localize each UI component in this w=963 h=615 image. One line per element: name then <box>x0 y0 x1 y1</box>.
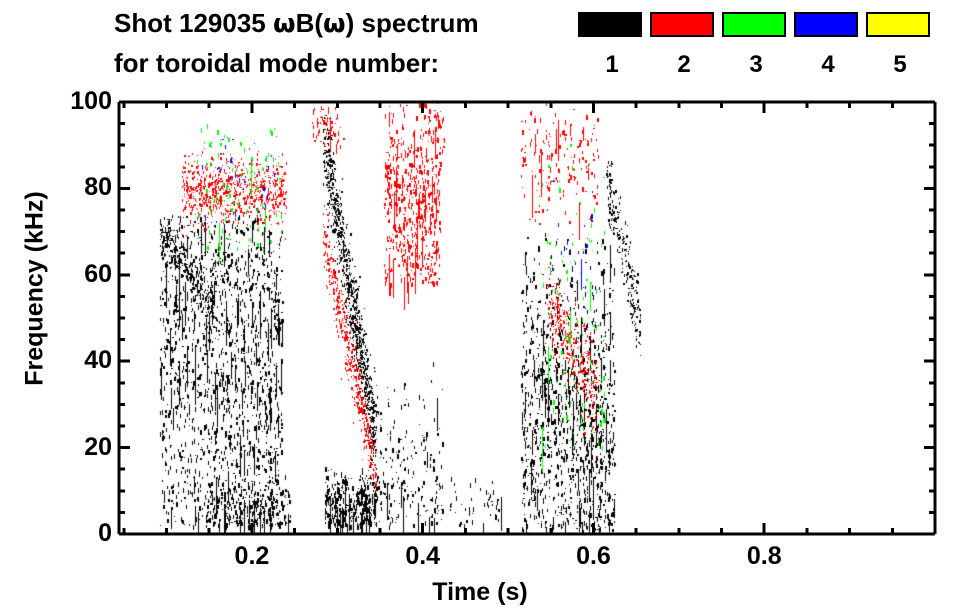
y-tick-label-60: 60 <box>52 262 112 287</box>
legend-label-3: 3 <box>722 52 790 78</box>
legend-item-2[interactable]: 2 <box>650 12 718 90</box>
legend-label-4: 4 <box>794 52 862 78</box>
title-suffix: ) spectrum <box>346 8 479 38</box>
legend-item-1[interactable]: 1 <box>578 12 646 90</box>
y-tick-label-40: 40 <box>52 348 112 373</box>
legend-item-4[interactable]: 4 <box>794 12 862 90</box>
mode-number-legend: 12345 <box>578 12 958 90</box>
omega-symbol-2: ω <box>323 9 346 39</box>
legend-item-3[interactable]: 3 <box>722 12 790 90</box>
chart-title-line-2: for toroidal mode number: <box>114 48 439 79</box>
legend-label-2: 2 <box>650 52 718 78</box>
x-tick-label-0.4: 0.4 <box>378 543 468 569</box>
legend-swatch-2 <box>650 12 714 37</box>
x-tick-label-0.8: 0.8 <box>719 543 809 569</box>
x-tick-label-0.6: 0.6 <box>548 543 638 569</box>
y-tick-label-20: 20 <box>52 435 112 460</box>
x-axis-title: Time (s) <box>380 578 580 607</box>
legend-label-5: 5 <box>866 52 934 78</box>
legend-swatch-5 <box>866 12 930 37</box>
x-tick-label-0.2: 0.2 <box>207 543 297 569</box>
legend-item-5[interactable]: 5 <box>866 12 934 90</box>
y-tick-label-100: 100 <box>52 89 112 114</box>
title-prefix: Shot 129035 <box>114 8 273 38</box>
spectrogram-figure: Shot 129035 ωB(ω) spectrum for toroidal … <box>0 0 963 615</box>
y-tick-label-0: 0 <box>52 521 112 546</box>
title-mid: B( <box>296 8 323 38</box>
legend-swatch-3 <box>722 12 786 37</box>
chart-title-line-1: Shot 129035 ωB(ω) spectrum <box>114 8 479 39</box>
y-axis-title: Frequency (kHz) <box>21 159 50 419</box>
legend-swatch-4 <box>794 12 858 37</box>
legend-label-1: 1 <box>578 52 646 78</box>
plot-area <box>119 102 935 534</box>
omega-symbol-1: ω <box>273 9 296 39</box>
legend-swatch-1 <box>578 12 642 37</box>
y-tick-label-80: 80 <box>52 175 112 200</box>
spectrogram-canvas <box>119 102 935 534</box>
y-axis-tick-labels: 020406080100 <box>46 0 112 615</box>
